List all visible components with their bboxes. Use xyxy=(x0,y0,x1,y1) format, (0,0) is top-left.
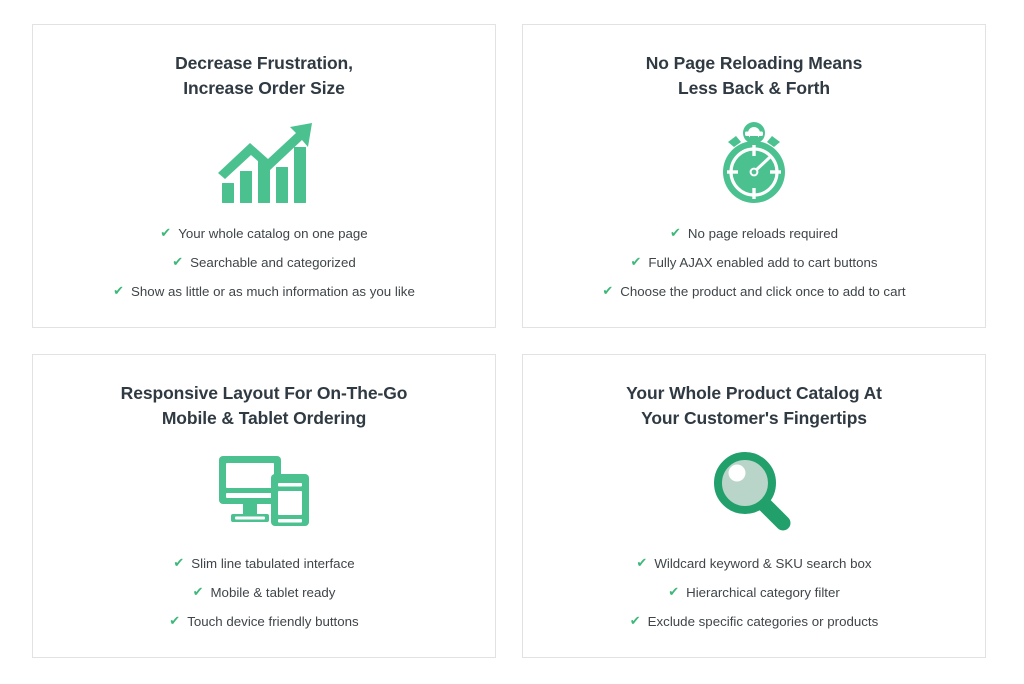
benefit-label: Mobile & tablet ready xyxy=(210,586,335,599)
feature-card-product-catalog-search: Your Whole Product Catalog At Your Custo… xyxy=(522,354,986,658)
magnifier-icon xyxy=(713,437,795,549)
responsive-devices-icon xyxy=(217,437,311,549)
benefit-item: ✔ Hierarchical category filter xyxy=(668,578,840,607)
feature-card-responsive-layout: Responsive Layout For On-The-Go Mobile &… xyxy=(32,354,496,658)
benefit-list: ✔ Wildcard keyword & SKU search box ✔ Hi… xyxy=(523,549,985,637)
stopwatch-icon xyxy=(714,107,794,219)
feature-cards-grid: Decrease Frustration, Increase Order Siz… xyxy=(32,24,986,658)
card-title: Decrease Frustration, Increase Order Siz… xyxy=(175,25,353,101)
benefit-label: Wildcard keyword & SKU search box xyxy=(654,557,871,570)
check-icon: ✔ xyxy=(602,284,613,297)
check-icon: ✔ xyxy=(173,556,184,569)
check-icon: ✔ xyxy=(169,614,180,627)
benefit-item: ✔ Searchable and categorized xyxy=(172,248,356,277)
benefit-item: ✔ Mobile & tablet ready xyxy=(193,578,336,607)
benefit-list: ✔ No page reloads required ✔ Fully AJAX … xyxy=(523,219,985,307)
check-icon: ✔ xyxy=(636,556,647,569)
benefit-item: ✔ Fully AJAX enabled add to cart buttons xyxy=(630,248,877,277)
check-icon: ✔ xyxy=(113,284,124,297)
benefit-list: ✔ Your whole catalog on one page ✔ Searc… xyxy=(33,219,495,307)
check-icon: ✔ xyxy=(668,585,679,598)
benefit-item: ✔ Exclude specific categories or product… xyxy=(630,607,879,636)
benefit-item: ✔ Touch device friendly buttons xyxy=(169,607,358,636)
card-title: Responsive Layout For On-The-Go Mobile &… xyxy=(121,355,408,431)
check-icon: ✔ xyxy=(160,226,171,239)
check-icon: ✔ xyxy=(630,255,641,268)
benefit-label: Searchable and categorized xyxy=(190,256,356,269)
benefit-label: Fully AJAX enabled add to cart buttons xyxy=(648,256,877,269)
benefit-label: Touch device friendly buttons xyxy=(187,615,358,628)
benefit-label: Hierarchical category filter xyxy=(686,586,840,599)
card-title: Your Whole Product Catalog At Your Custo… xyxy=(626,355,882,431)
benefit-item: ✔ Show as little or as much information … xyxy=(113,277,415,306)
benefit-item: ✔ No page reloads required xyxy=(670,219,838,248)
benefit-label: No page reloads required xyxy=(688,227,838,240)
check-icon: ✔ xyxy=(172,255,183,268)
benefit-label: Slim line tabulated interface xyxy=(191,557,354,570)
check-icon: ✔ xyxy=(630,614,641,627)
card-title: No Page Reloading Means Less Back & Fort… xyxy=(646,25,863,101)
benefit-item: ✔ Your whole catalog on one page xyxy=(160,219,367,248)
growth-chart-icon xyxy=(216,107,312,219)
benefit-label: Show as little or as much information as… xyxy=(131,285,415,298)
benefit-list: ✔ Slim line tabulated interface ✔ Mobile… xyxy=(33,549,495,637)
benefit-label: Your whole catalog on one page xyxy=(178,227,368,240)
benefit-label: Exclude specific categories or products xyxy=(648,615,879,628)
check-icon: ✔ xyxy=(670,226,681,239)
feature-card-decrease-frustration: Decrease Frustration, Increase Order Siz… xyxy=(32,24,496,328)
feature-card-no-page-reloading: No Page Reloading Means Less Back & Fort… xyxy=(522,24,986,328)
benefit-item: ✔ Slim line tabulated interface xyxy=(173,549,354,578)
check-icon: ✔ xyxy=(193,585,204,598)
benefit-item: ✔ Wildcard keyword & SKU search box xyxy=(636,549,871,578)
benefit-item: ✔ Choose the product and click once to a… xyxy=(602,277,905,306)
benefit-label: Choose the product and click once to add… xyxy=(620,285,905,298)
